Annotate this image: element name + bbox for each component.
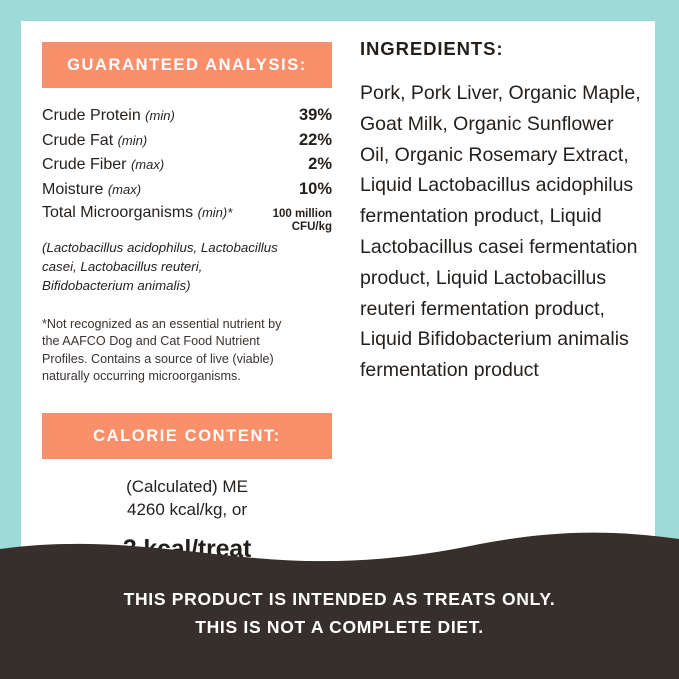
nutrient-label: Crude Protein (min) (42, 107, 175, 125)
nutrient-name: Crude Protein (42, 107, 141, 124)
nutrient-name: Total Microorganisms (42, 204, 193, 221)
microorganism-count: 100 million (273, 208, 332, 220)
right-column: INGREDIENTS: Pork, Pork Liver, Organic M… (360, 38, 645, 386)
disclaimer-line-1: THIS PRODUCT IS INTENDED AS TREATS ONLY. (0, 585, 679, 613)
disclaimer-line-2: THIS IS NOT A COMPLETE DIET. (0, 613, 679, 641)
nutrient-value: 39% (299, 106, 332, 125)
aafco-footnote: *Not recognized as an essential nutrient… (42, 316, 292, 386)
pet-food-label-card: GUARANTEED ANALYSIS: Crude Protein (min)… (0, 0, 679, 679)
nutrient-name: Moisture (42, 181, 103, 198)
ingredients-list: Pork, Pork Liver, Organic Maple, Goat Mi… (360, 78, 645, 386)
calorie-per-treat: 3 kcal/treat (42, 535, 332, 564)
nutrient-name: Crude Fiber (42, 156, 126, 173)
calorie-per-kg: 4260 kcal/kg, or (42, 499, 332, 522)
left-column: GUARANTEED ANALYSIS: Crude Protein (min)… (42, 42, 332, 564)
table-row: Crude Protein (min) 39% (42, 106, 332, 125)
table-row: Total Microorganisms (min)* 100 millionC… (42, 204, 332, 234)
table-row: Crude Fat (min) 22% (42, 131, 332, 150)
table-row: Moisture (max) 10% (42, 180, 332, 199)
microorganism-unit: CFU/kg (292, 221, 332, 233)
ingredients-heading: INGREDIENTS: (360, 38, 645, 60)
calorie-content-section: CALORIE CONTENT: (Calculated) ME 4260 kc… (42, 413, 332, 564)
calorie-content-heading: CALORIE CONTENT: (42, 413, 332, 459)
nutrient-label: Total Microorganisms (min)* (42, 204, 232, 222)
nutrient-label: Crude Fat (min) (42, 132, 147, 150)
guaranteed-analysis-table: Crude Protein (min) 39% Crude Fat (min) … (42, 106, 332, 234)
nutrient-qualifier: (min)* (198, 205, 233, 220)
nutrient-name: Crude Fat (42, 132, 113, 149)
nutrient-value: 2% (308, 155, 332, 174)
nutrient-value: 10% (299, 180, 332, 199)
table-row: Crude Fiber (max) 2% (42, 155, 332, 174)
calorie-calculated-me: (Calculated) ME (42, 476, 332, 499)
nutrient-qualifier: (max) (108, 182, 141, 197)
nutrient-qualifier: (min) (118, 133, 148, 148)
nutrient-value: 100 millionCFU/kg (273, 208, 332, 234)
nutrient-label: Moisture (max) (42, 181, 141, 199)
calorie-content-body: (Calculated) ME 4260 kcal/kg, or 3 kcal/… (42, 476, 332, 564)
nutrient-qualifier: (max) (131, 157, 164, 172)
guaranteed-analysis-heading: GUARANTEED ANALYSIS: (42, 42, 332, 88)
probiotic-strains-list: (Lactobacillus acidophilus, Lactobacillu… (42, 239, 282, 296)
treats-only-disclaimer: THIS PRODUCT IS INTENDED AS TREATS ONLY.… (0, 585, 679, 642)
nutrient-value: 22% (299, 131, 332, 150)
nutrient-label: Crude Fiber (max) (42, 156, 164, 174)
nutrient-qualifier: (min) (145, 108, 175, 123)
